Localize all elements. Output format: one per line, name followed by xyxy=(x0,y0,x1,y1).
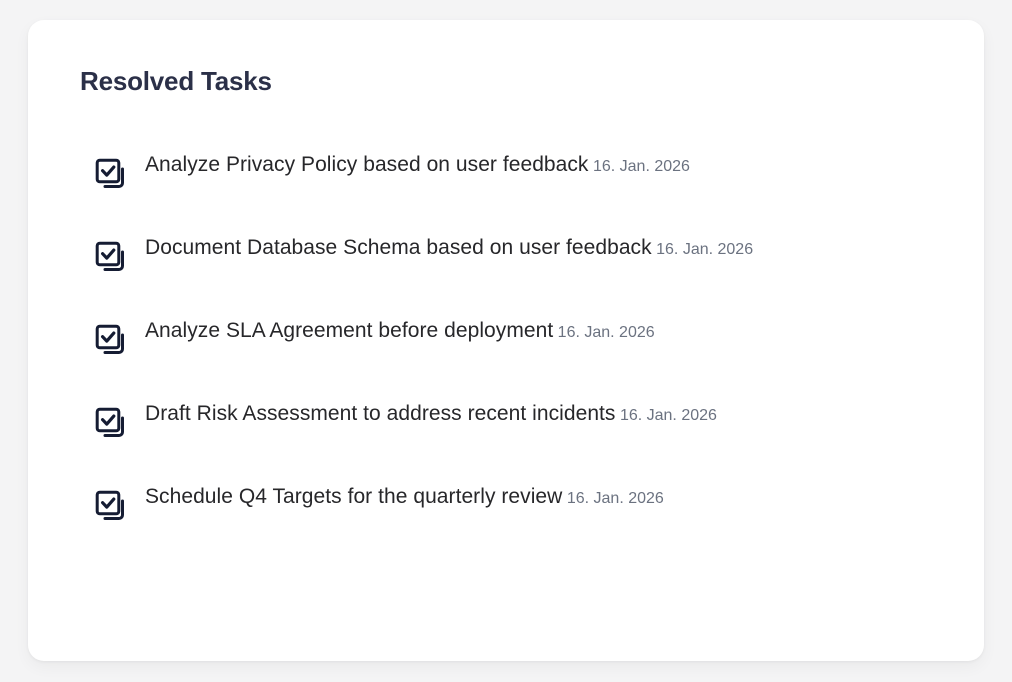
task-name: Analyze SLA Agreement before deployment xyxy=(145,319,553,342)
list-item[interactable]: Draft Risk Assessment to address recent … xyxy=(80,398,944,481)
task-details: Analyze Privacy Policy based on user fee… xyxy=(145,149,690,178)
checked-duplicate-square-icon xyxy=(95,158,135,194)
page-title: Resolved Tasks xyxy=(80,66,272,97)
task-date: 16. Jan. 2026 xyxy=(593,158,690,175)
checked-duplicate-square-icon xyxy=(95,324,135,360)
list-item[interactable]: Document Database Schema based on user f… xyxy=(80,232,944,315)
task-name: Document Database Schema based on user f… xyxy=(145,236,652,259)
task-details: Schedule Q4 Targets for the quarterly re… xyxy=(145,481,664,510)
task-date: 16. Jan. 2026 xyxy=(558,324,655,341)
task-date: 16. Jan. 2026 xyxy=(620,407,717,424)
task-name: Analyze Privacy Policy based on user fee… xyxy=(145,153,589,176)
list-item[interactable]: Schedule Q4 Targets for the quarterly re… xyxy=(80,481,944,564)
checked-duplicate-square-icon xyxy=(95,241,135,277)
task-name: Schedule Q4 Targets for the quarterly re… xyxy=(145,485,562,508)
list-item[interactable]: Analyze Privacy Policy based on user fee… xyxy=(80,149,944,232)
resolved-tasks-list: Analyze Privacy Policy based on user fee… xyxy=(80,149,944,564)
task-date: 16. Jan. 2026 xyxy=(567,490,664,507)
task-details: Draft Risk Assessment to address recent … xyxy=(145,398,717,427)
task-date: 16. Jan. 2026 xyxy=(656,241,753,258)
task-details: Document Database Schema based on user f… xyxy=(145,232,753,261)
resolved-tasks-card: Resolved Tasks Analyze Privacy Policy ba… xyxy=(28,20,984,661)
task-name: Draft Risk Assessment to address recent … xyxy=(145,402,615,425)
task-details: Analyze SLA Agreement before deployment … xyxy=(145,315,655,344)
checked-duplicate-square-icon xyxy=(95,490,135,526)
list-item[interactable]: Analyze SLA Agreement before deployment … xyxy=(80,315,944,398)
checked-duplicate-square-icon xyxy=(95,407,135,443)
